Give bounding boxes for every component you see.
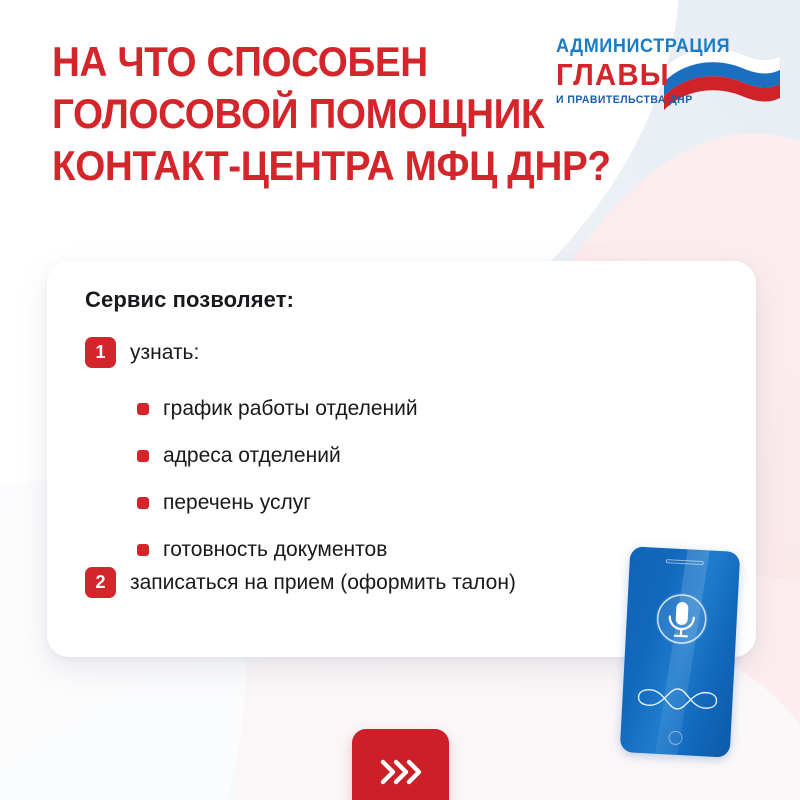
bullet-square-icon <box>137 544 149 556</box>
bullet-label: график работы отделений <box>163 397 418 421</box>
numbered-item-1-label: узнать: <box>130 341 199 365</box>
double-chevron-right-icon <box>377 757 425 787</box>
headline: НА ЧТО СПОСОБЕН ГОЛОСОВОЙ ПОМОЩНИК КОНТА… <box>52 36 572 192</box>
bullet-label: адреса отделений <box>163 444 341 468</box>
administration-logo: АДМИНИСТРАЦИЯ ГЛАВЫ И ПРАВИТЕЛЬСТВА ДНР <box>552 30 782 118</box>
content-card: Сервис позволяет: 1 узнать: график работ… <box>47 261 756 657</box>
list-item: перечень услуг <box>137 479 418 526</box>
logo-line-head: ГЛАВЫ <box>556 59 730 91</box>
number-badge-2: 2 <box>85 567 116 598</box>
bullet-square-icon <box>137 450 149 462</box>
logo-line-government: И ПРАВИТЕЛЬСТВА ДНР <box>556 94 730 106</box>
microphone-icon <box>652 590 711 649</box>
phone-gloss <box>651 546 713 757</box>
numbered-item-2-label: записаться на прием (оформить талон) <box>130 571 516 595</box>
bullet-label: перечень услуг <box>163 491 311 515</box>
next-slide-button[interactable] <box>352 729 449 800</box>
smartphone-illustration <box>620 546 741 757</box>
numbered-item-1: 1 узнать: <box>85 337 199 368</box>
bullet-list: график работы отделений адреса отделений… <box>137 385 418 573</box>
logo-line-administration: АДМИНИСТРАЦИЯ <box>556 36 730 58</box>
phone-body <box>620 546 741 757</box>
bullet-square-icon <box>137 497 149 509</box>
voice-waveform-icon <box>634 680 722 718</box>
card-title: Сервис позволяет: <box>85 287 294 313</box>
poster-canvas: НА ЧТО СПОСОБЕН ГОЛОСОВОЙ ПОМОЩНИК КОНТА… <box>0 0 800 800</box>
list-item: готовность документов <box>137 526 418 573</box>
logo-text-block: АДМИНИСТРАЦИЯ ГЛАВЫ И ПРАВИТЕЛЬСТВА ДНР <box>556 36 739 106</box>
bullet-label: готовность документов <box>163 538 387 562</box>
number-badge-1: 1 <box>85 337 116 368</box>
list-item: график работы отделений <box>137 385 418 432</box>
list-item: адреса отделений <box>137 432 418 479</box>
numbered-item-2: 2 записаться на прием (оформить талон) <box>85 567 516 598</box>
headline-line-3: КОНТАКТ-ЦЕНТРА МФЦ ДНР? <box>52 140 530 192</box>
headline-line-2: ГОЛОСОВОЙ ПОМОЩНИК <box>52 88 530 140</box>
headline-line-1: НА ЧТО СПОСОБЕН <box>52 36 530 88</box>
bullet-square-icon <box>137 403 149 415</box>
